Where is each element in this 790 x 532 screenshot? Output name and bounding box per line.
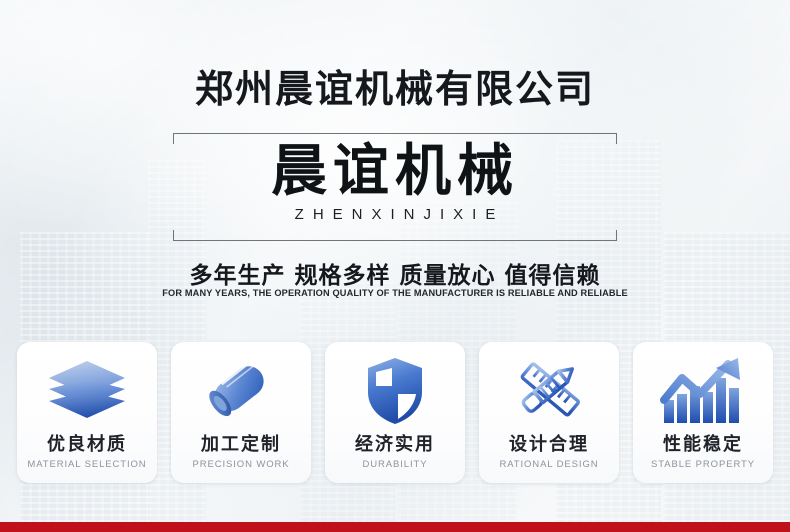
feature-title: 优良材质 — [47, 430, 127, 456]
feature-card-material-selection: 优良材质 MATERIAL SELECTION — [17, 342, 157, 483]
feature-title: 性能稳定 — [663, 430, 743, 456]
pipe-icon — [171, 354, 311, 428]
feature-subtitle: MATERIAL SELECTION — [27, 460, 146, 470]
feature-title: 设计合理 — [509, 430, 589, 456]
feature-card-durability: 经济实用 DURABILITY — [325, 342, 465, 483]
brand-name: 晨谊机械 — [0, 142, 790, 202]
feature-subtitle: RATIONAL DESIGN — [499, 460, 598, 470]
feature-card-precision-work: 加工定制 PRECISION WORK — [171, 342, 311, 483]
layers-icon — [17, 354, 157, 428]
feature-title: 加工定制 — [201, 430, 281, 456]
slogan-english: FOR MANY YEARS, THE OPERATION QUALITY OF… — [12, 288, 778, 299]
feature-subtitle: PRECISION WORK — [192, 460, 289, 470]
bottom-accent-bar — [0, 522, 790, 532]
growth-chart-icon — [633, 354, 773, 428]
promotional-banner: 郑州晨谊机械有限公司 晨谊机械 ZHENXINJIXIE 多年生产 规格多样 质… — [0, 0, 790, 532]
feature-subtitle: DURABILITY — [363, 460, 428, 470]
slogan-chinese: 多年生产 规格多样 质量放心 值得信赖 — [0, 256, 790, 290]
feature-card-stable-property: 性能稳定 STABLE PROPERTY — [633, 342, 773, 483]
feature-subtitle: STABLE PROPERTY — [651, 460, 755, 470]
feature-card-list: 优良材质 MATERIAL SELECTION — [0, 342, 790, 483]
company-name: 郑州晨谊机械有限公司 — [0, 58, 790, 113]
banner-content: 郑州晨谊机械有限公司 晨谊机械 ZHENXINJIXIE 多年生产 规格多样 质… — [0, 0, 790, 532]
frame-top-edge — [173, 133, 617, 134]
frame-corner-bottom-right — [616, 230, 617, 241]
shield-icon — [325, 354, 465, 428]
frame-bottom-edge — [173, 240, 617, 241]
feature-card-rational-design: 设计合理 RATIONAL DESIGN — [479, 342, 619, 483]
ruler-pencil-icon — [479, 354, 619, 428]
brand-pinyin: ZHENXINJIXIE — [0, 206, 790, 223]
frame-corner-bottom-left — [173, 230, 174, 241]
feature-title: 经济实用 — [355, 430, 435, 456]
